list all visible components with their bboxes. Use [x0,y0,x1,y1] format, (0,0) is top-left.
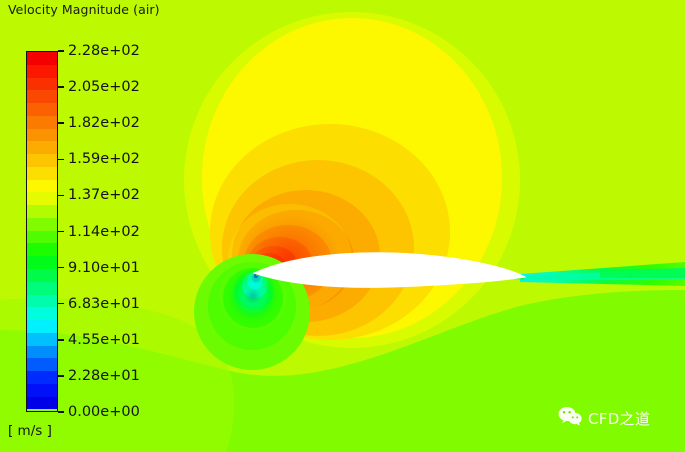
colorbar-tick-mark [58,122,64,124]
colorbar-band [27,346,57,359]
watermark-text: CFD之道 [588,408,650,429]
colorbar-band [27,384,57,397]
colorbar-band [27,129,57,142]
colorbar-tick-label: 9.10e+01 [68,260,140,276]
colorbar-band [27,116,57,129]
colorbar-gradient [26,51,58,412]
colorbar-band [27,78,57,91]
colorbar-tick-mark [58,50,64,52]
colorbar-band [27,52,57,65]
colorbar-band [27,307,57,320]
colorbar-band [27,256,57,269]
colorbar-tick-label: 0.00e+00 [68,404,140,420]
colorbar-band [27,154,57,167]
colorbar-band [27,180,57,193]
colorbar-band [27,295,57,308]
colorbar-band [27,218,57,231]
colorbar-band [27,205,57,218]
colorbar-tick-label: 2.28e+01 [68,368,140,384]
colorbar-tick-mark [58,375,64,377]
colorbar-band [27,358,57,371]
colorbar-tick-label: 2.28e+02 [68,43,140,59]
colorbar-band [27,269,57,282]
colorbar-tick-label: 1.59e+02 [68,151,140,167]
colorbar-tick-mark [58,231,64,233]
colorbar-tick-label: 2.05e+02 [68,79,140,95]
colorbar-band [27,167,57,180]
colorbar-band [27,90,57,103]
colorbar-tick-mark [58,339,64,341]
colorbar-tick-label: 4.55e+01 [68,332,140,348]
colorbar-tick-mark [58,195,64,197]
colorbar-band [27,371,57,384]
watermark: CFD之道 [558,406,650,430]
colorbar-tick-label: 1.82e+02 [68,115,140,131]
colorbar-band [27,333,57,346]
colorbar-band [27,231,57,244]
colorbar-tick-mark [58,411,64,413]
colorbar-band [27,192,57,205]
colorbar-tick-mark [58,86,64,88]
colorbar-tick-label: 6.83e+01 [68,296,140,312]
colorbar-tick-mark [58,303,64,305]
cfd-contour-plot: Velocity Magnitude (air) 2.28e+022.05e+0… [0,0,685,452]
wechat-icon [558,406,582,430]
colorbar-band [27,282,57,295]
colorbar-units-label: [ m/s ] [8,423,52,439]
colorbar-tick-mark [58,159,64,161]
colorbar-band [27,141,57,154]
page-title: Velocity Magnitude (air) [8,2,160,17]
colorbar-band [27,243,57,256]
colorbar-band [27,103,57,116]
colorbar-tick-label: 1.14e+02 [68,224,140,240]
colorbar [26,51,58,412]
colorbar-tick-mark [58,267,64,269]
colorbar-band [27,320,57,333]
colorbar-band [27,65,57,78]
colorbar-tick-label: 1.37e+02 [68,187,140,203]
colorbar-band [27,397,57,410]
